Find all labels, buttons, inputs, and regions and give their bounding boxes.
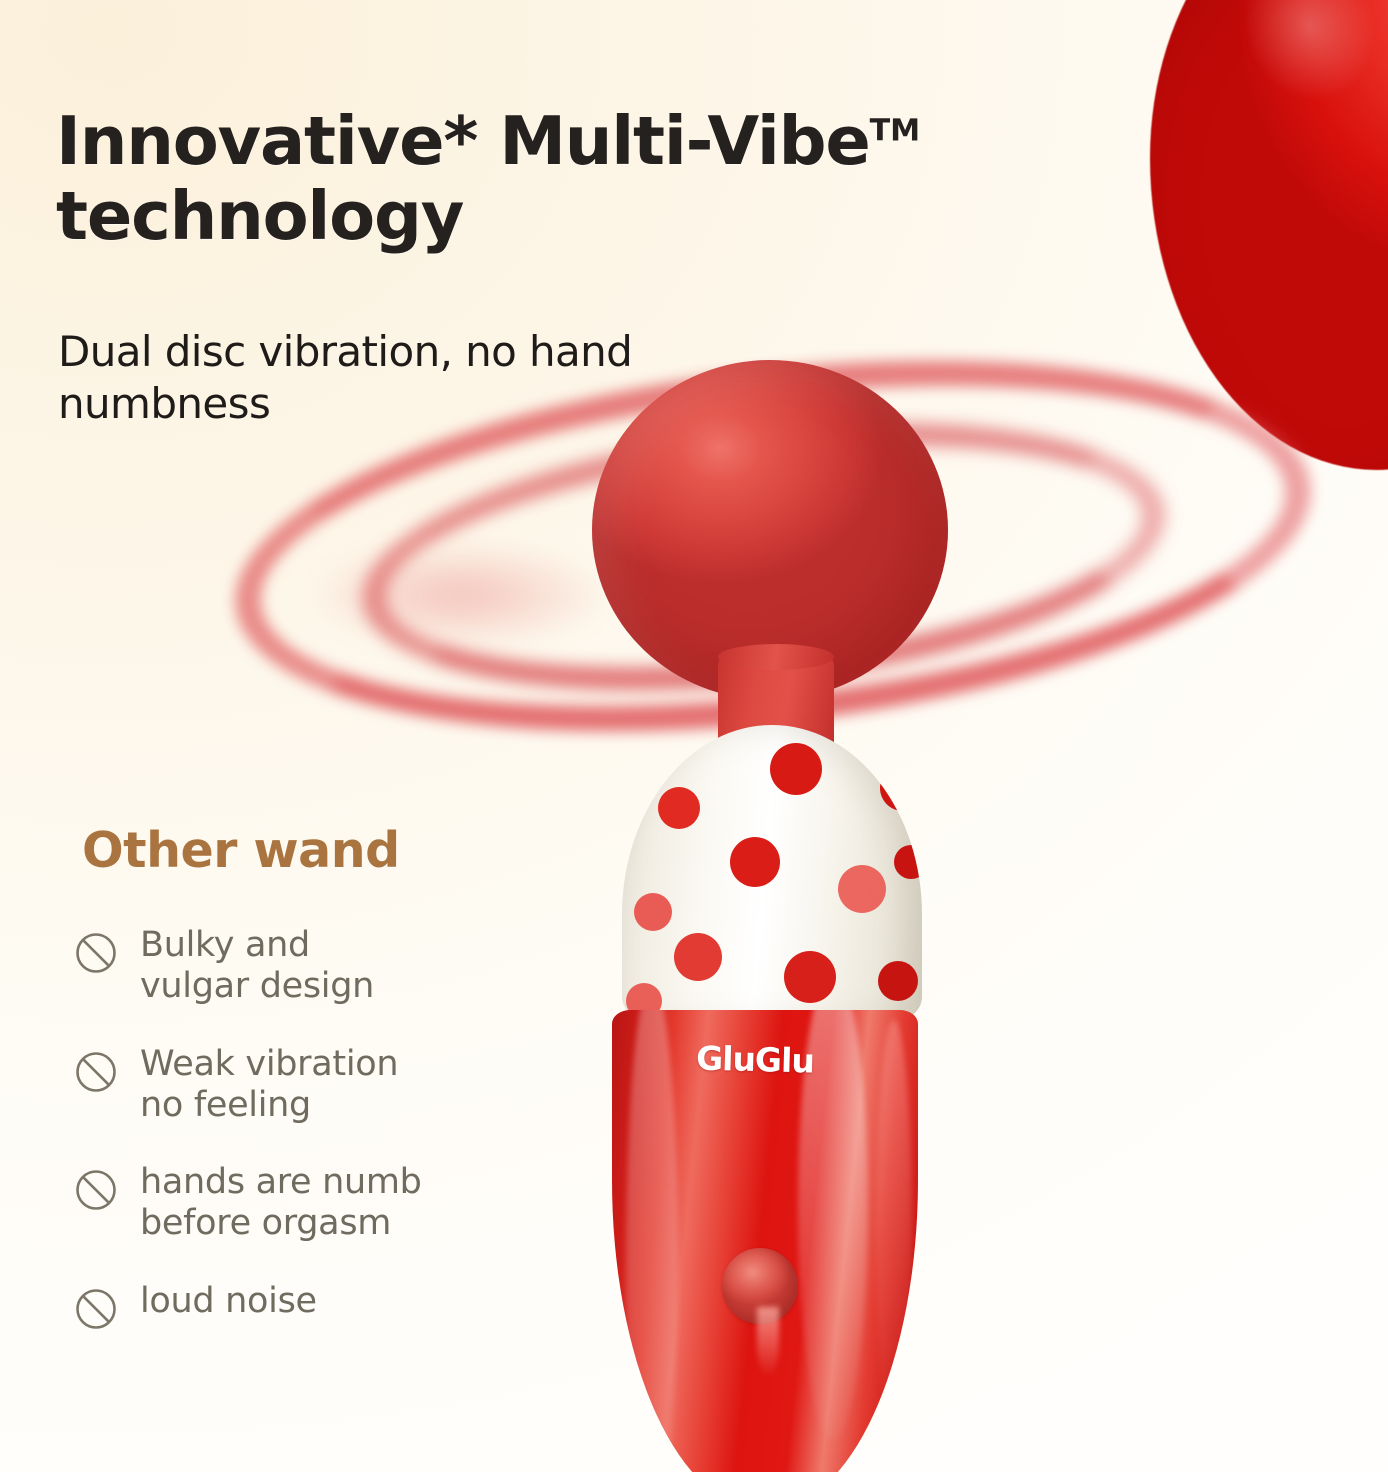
- drawback-label: hands are numb before orgasm: [140, 1162, 422, 1245]
- prohibition-icon: [74, 1044, 118, 1099]
- polka-dot: [878, 961, 918, 1001]
- drawback-label: loud noise: [140, 1281, 317, 1322]
- prohibition-icon: [74, 1281, 118, 1336]
- page-title: Innovative* Multi-VibeTMtechnology: [56, 104, 1146, 254]
- headline-line2: technology: [56, 177, 463, 255]
- polka-dot: [784, 951, 836, 1003]
- polka-dot: [894, 845, 922, 879]
- product-wand-illustration: GluGlu: [500, 360, 920, 1472]
- drawback-item: hands are numb before orgasm: [74, 1162, 514, 1245]
- polka-dot: [770, 743, 822, 795]
- brand-logo: GluGlu: [640, 1037, 871, 1082]
- polka-dot: [674, 933, 722, 981]
- wand-red-body: [612, 1010, 918, 1472]
- gloss-highlight-edge: [876, 1020, 912, 1440]
- prohibition-icon: [74, 1162, 118, 1217]
- drawback-item: loud noise: [74, 1281, 514, 1336]
- red-balloon-decoration: [1150, 0, 1388, 470]
- product-feature-banner: GluGlu Innovative* Multi-VibeTMtechnolog…: [0, 0, 1388, 1472]
- drawback-label: Weak vibration no feeling: [140, 1044, 398, 1127]
- comparison-heading: Other wand: [82, 822, 400, 879]
- drawback-label: Bulky and vulgar design: [140, 925, 374, 1008]
- page-subtitle: Dual disc vibration, no hand numbness: [58, 326, 798, 430]
- drawback-item: Bulky and vulgar design: [74, 925, 514, 1008]
- drawback-item: Weak vibration no feeling: [74, 1044, 514, 1127]
- polka-dot: [634, 893, 672, 931]
- wand-dotted-body: [622, 725, 922, 1025]
- polka-dot: [838, 865, 886, 913]
- headline-line1: Innovative* Multi-Vibe: [56, 102, 870, 180]
- prohibition-icon: [74, 925, 118, 980]
- polka-dot: [880, 765, 922, 811]
- polka-dot: [730, 837, 780, 887]
- power-button[interactable]: [722, 1248, 798, 1324]
- polka-dot: [658, 787, 700, 829]
- gloss-highlight-left: [626, 1010, 678, 1472]
- trademark-symbol: TM: [870, 114, 921, 149]
- comparison-drawback-list: Bulky and vulgar designWeak vibration no…: [74, 925, 514, 1372]
